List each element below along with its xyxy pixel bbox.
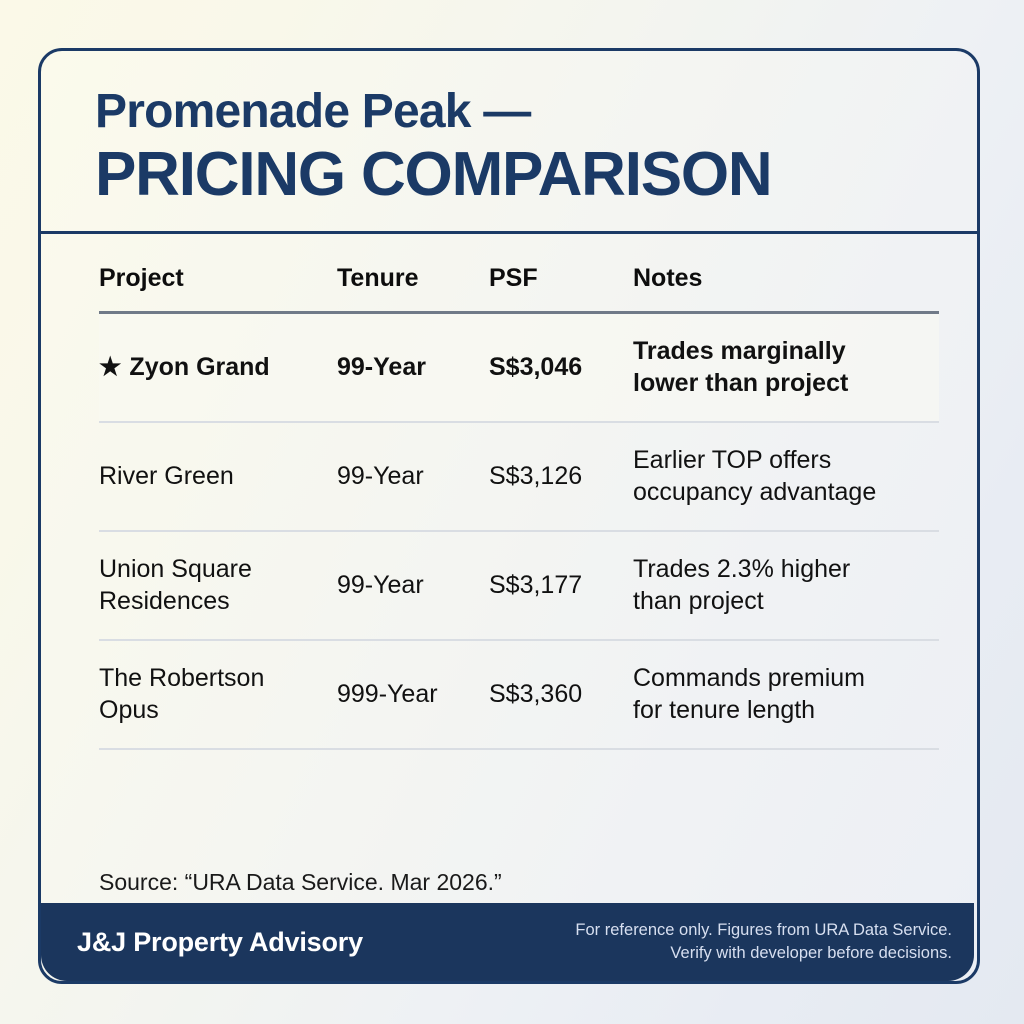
column-header-notes: Notes — [633, 234, 939, 313]
table-container: Project Tenure PSF Notes ★Zyon Grand 99-… — [41, 234, 977, 835]
cell-tenure: 99-Year — [337, 531, 489, 640]
footer-disclaimer-line-2: Verify with developer before decisions. — [670, 944, 952, 962]
cell-tenure: 99-Year — [337, 422, 489, 531]
table-row: ★Zyon Grand 99-Year S$3,046 Trades margi… — [99, 313, 939, 423]
cell-notes-line-2: lower than project — [633, 369, 848, 397]
cell-tenure: 999-Year — [337, 640, 489, 749]
column-header-psf: PSF — [489, 234, 633, 313]
title-block: Promenade Peak — PRICING COMPARISON — [41, 51, 977, 209]
table-row: River Green 99-Year S$3,126 Earlier TOP … — [99, 422, 939, 531]
table-row: The Robertson Opus 999-Year S$3,360 Comm… — [99, 640, 939, 749]
cell-notes-line-1: Trades marginally — [633, 337, 846, 365]
source-note: Source: “URA Data Service. Mar 2026.” — [41, 835, 977, 896]
table-body: ★Zyon Grand 99-Year S$3,046 Trades margi… — [99, 313, 939, 750]
cell-notes: Trades marginallylower than project — [633, 313, 939, 423]
footer-brand: J&J Property Advisory — [77, 927, 363, 958]
cell-notes-line-1: Earlier TOP offers — [633, 446, 831, 474]
pricing-comparison-card: Promenade Peak — PRICING COMPARISON Proj… — [38, 48, 980, 984]
cell-notes: Commands premiumfor tenure length — [633, 640, 939, 749]
footer-disclaimer-line-1: For reference only. Figures from URA Dat… — [575, 921, 952, 939]
cell-notes: Earlier TOP offersoccupancy advantage — [633, 422, 939, 531]
table-row: Union Square Residences 99-Year S$3,177 … — [99, 531, 939, 640]
cell-project-label: Zyon Grand — [129, 353, 269, 381]
table-header-row: Project Tenure PSF Notes — [99, 234, 939, 313]
page-title-line-2: PRICING COMPARISON — [95, 140, 933, 209]
cell-notes-line-1: Commands premium — [633, 664, 865, 692]
cell-psf: S$3,360 — [489, 640, 633, 749]
cell-project: River Green — [99, 422, 337, 531]
cell-psf: S$3,046 — [489, 313, 633, 423]
cell-project: The Robertson Opus — [99, 640, 337, 749]
cell-notes-line-2: for tenure length — [633, 696, 815, 724]
cell-notes: Trades 2.3% higherthan project — [633, 531, 939, 640]
cell-notes-line-1: Trades 2.3% higher — [633, 555, 850, 583]
cell-tenure: 99-Year — [337, 313, 489, 423]
column-header-tenure: Tenure — [337, 234, 489, 313]
cell-project: ★Zyon Grand — [99, 313, 337, 423]
cell-psf: S$3,177 — [489, 531, 633, 640]
cell-notes-line-2: occupancy advantage — [633, 478, 876, 506]
cell-psf: S$3,126 — [489, 422, 633, 531]
cell-project: Union Square Residences — [99, 531, 337, 640]
column-header-project: Project — [99, 234, 337, 313]
table-header: Project Tenure PSF Notes — [99, 234, 939, 313]
page-title-line-1: Promenade Peak — — [95, 87, 933, 138]
footer-disclaimer: For reference only. Figures from URA Dat… — [575, 919, 952, 966]
star-icon: ★ — [99, 355, 121, 380]
cell-notes-line-2: than project — [633, 587, 764, 615]
footer-bar: J&J Property Advisory For reference only… — [41, 903, 974, 981]
pricing-table: Project Tenure PSF Notes ★Zyon Grand 99-… — [99, 234, 939, 750]
